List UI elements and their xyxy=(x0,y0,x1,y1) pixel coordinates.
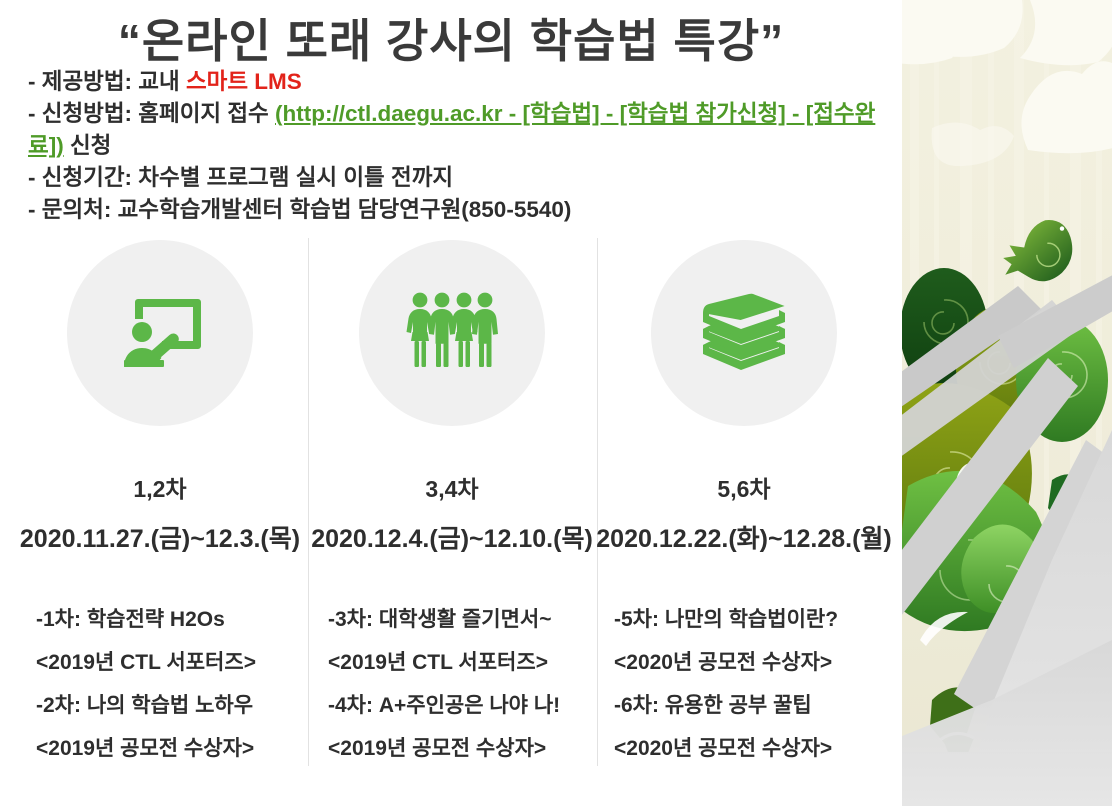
info-line-1-prefix: - 제공방법: 교내 xyxy=(28,69,186,94)
teacher-presentation-icon xyxy=(112,291,208,375)
session-line: -4차: A+주인공은 나야 나! xyxy=(328,684,598,727)
column-phase-label-1: 1,2차 xyxy=(133,478,186,501)
session-line: <2020년 공모전 수상자> xyxy=(614,727,890,770)
page-title: “온라인 또래 강사의 학습법 특강” xyxy=(0,16,902,67)
session-line: <2019년 CTL 서포터즈> xyxy=(328,641,598,684)
schedule-column-3: 5,6차 2020.12.22.(화)~12.28.(월) -5차: 나만의 학… xyxy=(598,238,890,770)
session-list-2: -3차: 대학생활 즐기면서~ <2019년 CTL 서포터즈> -4차: A+… xyxy=(306,598,598,770)
column-dates-3: 2020.12.22.(화)~12.28.(월) xyxy=(596,527,891,552)
column-phase-label-2: 3,4차 xyxy=(425,478,478,501)
icon-circle-3 xyxy=(651,240,837,426)
session-line: <2019년 공모전 수상자> xyxy=(36,727,306,770)
content-area: “온라인 또래 강사의 학습법 특강” - 제공방법: 교내 스마트 LMS -… xyxy=(0,0,902,806)
info-line-application-period: - 신청기간: 차수별 프로그램 실시 이틀 전까지 xyxy=(28,162,902,194)
schedule-column-2: 3,4차 2020.12.4.(금)~12.10.(목) -3차: 대학생활 즐… xyxy=(306,238,598,770)
column-dates-2: 2020.12.4.(금)~12.10.(목) xyxy=(311,527,593,552)
column-phase-label-3: 5,6차 xyxy=(717,478,770,501)
session-line: -1차: 학습전략 H2Os xyxy=(36,598,306,641)
column-dates-1: 2020.11.27.(금)~12.3.(목) xyxy=(20,527,300,552)
info-line-2-prefix: - 신청방법: 홈페이지 접수 xyxy=(28,101,275,126)
info-block: - 제공방법: 교내 스마트 LMS - 신청방법: 홈페이지 접수 (http… xyxy=(28,66,902,226)
smart-lms-highlight: 스마트 LMS xyxy=(186,69,302,94)
session-list-3: -5차: 나만의 학습법이란? <2020년 공모전 수상자> -6차: 유용한… xyxy=(598,598,890,770)
icon-circle-1 xyxy=(67,240,253,426)
poster-canvas: “온라인 또래 강사의 학습법 특강” - 제공방법: 교내 스마트 LMS -… xyxy=(0,0,1112,806)
session-line: -2차: 나의 학습법 노하우 xyxy=(36,684,306,727)
info-line-contact: - 문의처: 교수학습개발센터 학습법 담당연구원(850-5540) xyxy=(28,194,902,226)
session-line: -3차: 대학생활 즐기면서~ xyxy=(328,598,598,641)
session-line: -6차: 유용한 공부 꿀팁 xyxy=(614,684,890,727)
info-line-application-method: - 신청방법: 홈페이지 접수 (http://ctl.daegu.ac.kr … xyxy=(28,98,902,162)
session-line: <2019년 CTL 서포터즈> xyxy=(36,641,306,684)
group-of-people-icon xyxy=(406,291,498,375)
session-line: <2019년 공모전 수상자> xyxy=(328,727,598,770)
session-list-1: -1차: 학습전략 H2Os <2019년 CTL 서포터즈> -2차: 나의 … xyxy=(14,598,306,770)
info-line-provision-method: - 제공방법: 교내 스마트 LMS xyxy=(28,66,902,98)
decorative-nature-illustration xyxy=(902,0,1112,806)
schedule-column-1: 1,2차 2020.11.27.(금)~12.3.(목) -1차: 학습전략 H… xyxy=(14,238,306,770)
schedule-columns: 1,2차 2020.11.27.(금)~12.3.(목) -1차: 학습전략 H… xyxy=(14,238,890,770)
info-line-2-suffix: 신청 xyxy=(64,133,112,158)
session-line: <2020년 공모전 수상자> xyxy=(614,641,890,684)
icon-circle-2 xyxy=(359,240,545,426)
stack-of-books-icon xyxy=(697,289,791,377)
session-line: -5차: 나만의 학습법이란? xyxy=(614,598,890,641)
